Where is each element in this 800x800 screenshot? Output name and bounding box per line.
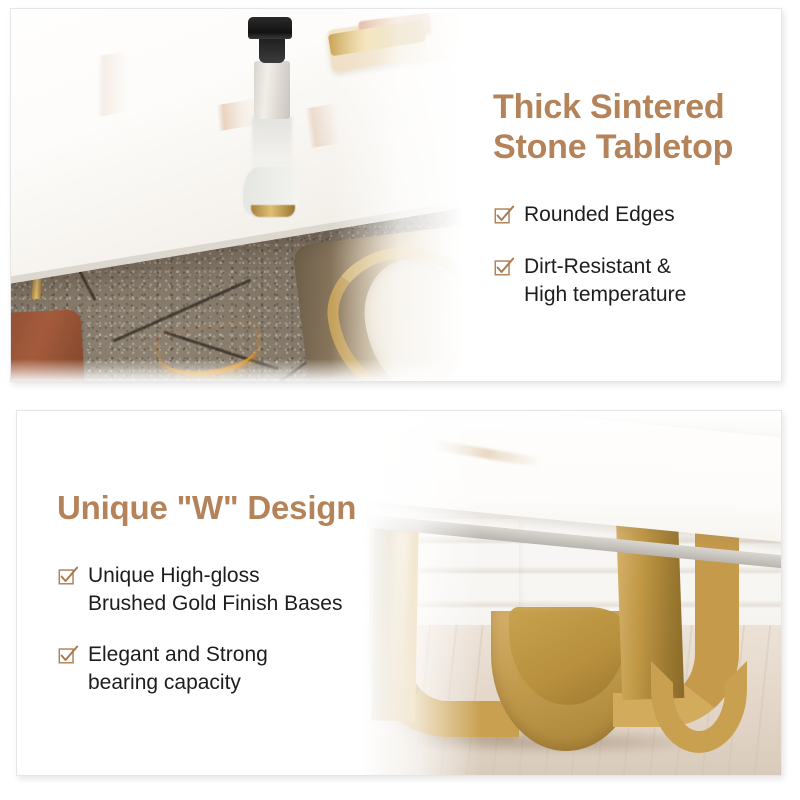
product-feature-infographic: Thick Sintered Stone Tabletop Rounded Ed… (0, 0, 800, 800)
list-item-label: Rounded Edges (524, 201, 675, 229)
tabletop-feature-list: Rounded Edges Dirt-Resistant & High temp… (493, 201, 782, 308)
w-design-feature-list: Unique High-gloss Brushed Gold Finish Ba… (57, 562, 417, 697)
checkbox-checked-icon (57, 565, 79, 587)
tabletop-copy-block: Thick Sintered Stone Tabletop Rounded Ed… (481, 9, 782, 381)
checkbox-checked-icon (493, 256, 515, 278)
gold-foot-reflection (251, 205, 295, 217)
w-design-copy-block: Unique "W" Design Unique High-gloss Brus… (17, 411, 417, 775)
pepper-mill-neck (259, 37, 285, 63)
list-item: Dirt-Resistant & High temperature (493, 253, 782, 308)
checkbox-checked-icon (57, 644, 79, 666)
tabletop-photo (11, 9, 481, 381)
checkbox-checked-icon (493, 204, 515, 226)
list-item-label: Dirt-Resistant & High temperature (524, 253, 686, 308)
list-item: Unique High-gloss Brushed Gold Finish Ba… (57, 562, 417, 617)
feature-panel-w-design: Unique "W" Design Unique High-gloss Brus… (16, 410, 782, 776)
page-title-tabletop: Thick Sintered Stone Tabletop (493, 87, 782, 167)
feature-panel-tabletop: Thick Sintered Stone Tabletop Rounded Ed… (10, 8, 782, 382)
list-item-label: Elegant and Strong bearing capacity (88, 641, 268, 696)
photo-right-fade (331, 9, 481, 381)
list-item: Elegant and Strong bearing capacity (57, 641, 417, 696)
page-title-w-design: Unique "W" Design (57, 489, 417, 528)
list-item: Rounded Edges (493, 201, 782, 229)
pepper-mill-cap (248, 17, 292, 39)
list-item-label: Unique High-gloss Brushed Gold Finish Ba… (88, 562, 342, 617)
pepper-mill-body (254, 61, 290, 119)
